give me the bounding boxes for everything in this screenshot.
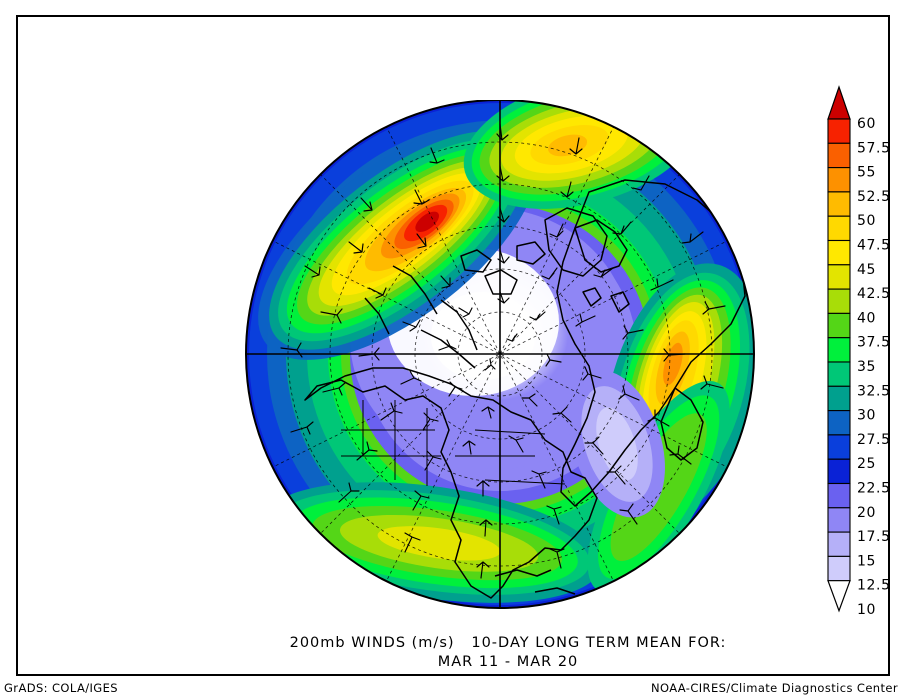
colorbar-tick-label: 35 [857, 359, 876, 375]
colorbar-tick-label: 22.5 [857, 481, 891, 497]
footer-left-credit: GrADS: COLA/IGES [4, 681, 118, 695]
colorbar-extend-up-arrow [828, 87, 850, 119]
colorbar-tick-label: 37.5 [857, 335, 891, 351]
colorbar-tick-label: 17.5 [857, 529, 891, 545]
figure-frame: 6057.55552.55047.54542.54037.53532.53027… [16, 15, 890, 676]
colorbar-tick-labels: 6057.55552.55047.54542.54037.53532.53027… [857, 116, 891, 618]
colorbar-tick-label: 60 [857, 116, 876, 132]
colorbar-band [828, 241, 850, 265]
colorbar-tick-label: 55 [857, 165, 876, 181]
colorbar-tick-label: 32.5 [857, 383, 891, 399]
polar-map [245, 100, 755, 610]
colorbar-band [828, 192, 850, 216]
colorbar-tick-label: 25 [857, 456, 876, 472]
colorbar-tick-label: 50 [857, 213, 876, 229]
colorbar-band [828, 532, 850, 556]
colorbar-svg: 6057.55552.55047.54542.54037.53532.53027… [824, 85, 904, 645]
colorbar-band [828, 508, 850, 532]
colorbar-band [828, 411, 850, 435]
colorbar-tick-label: 12.5 [857, 578, 891, 594]
colorbar-tick-label: 57.5 [857, 140, 891, 156]
colorbar-extend-down-arrow [828, 581, 850, 611]
colorbar-tick-label: 27.5 [857, 432, 891, 448]
colorbar-bands [828, 87, 850, 611]
colorbar-band [828, 459, 850, 483]
footer-right-credit: NOAA-CIRES/Climate Diagnostics Center [651, 681, 898, 695]
colorbar-tick-label: 20 [857, 505, 876, 521]
polar-map-svg [245, 100, 755, 610]
colorbar-tick-label: 52.5 [857, 189, 891, 205]
colorbar-band [828, 143, 850, 167]
colorbar: 6057.55552.55047.54542.54037.53532.53027… [824, 85, 904, 645]
colorbar-band [828, 435, 850, 459]
colorbar-tick-label: 15 [857, 553, 876, 569]
colorbar-tick-label: 40 [857, 310, 876, 326]
chart-title-line2: MAR 11 - MAR 20 [158, 654, 858, 670]
chart-title-line1: 200mb WINDS (m/s) 10-DAY LONG TERM MEAN … [158, 635, 858, 651]
colorbar-band [828, 338, 850, 362]
colorbar-band [828, 119, 850, 143]
colorbar-tick-label: 47.5 [857, 238, 891, 254]
colorbar-tick-label: 30 [857, 408, 876, 424]
colorbar-tick-label: 45 [857, 262, 876, 278]
colorbar-band [828, 265, 850, 289]
colorbar-band [828, 362, 850, 386]
colorbar-band [828, 386, 850, 410]
colorbar-tick-label: 10 [857, 602, 876, 618]
colorbar-band [828, 216, 850, 240]
colorbar-band [828, 556, 850, 580]
colorbar-band [828, 289, 850, 313]
colorbar-band [828, 168, 850, 192]
colorbar-band [828, 484, 850, 508]
colorbar-tick-label: 42.5 [857, 286, 891, 302]
colorbar-band [828, 313, 850, 337]
